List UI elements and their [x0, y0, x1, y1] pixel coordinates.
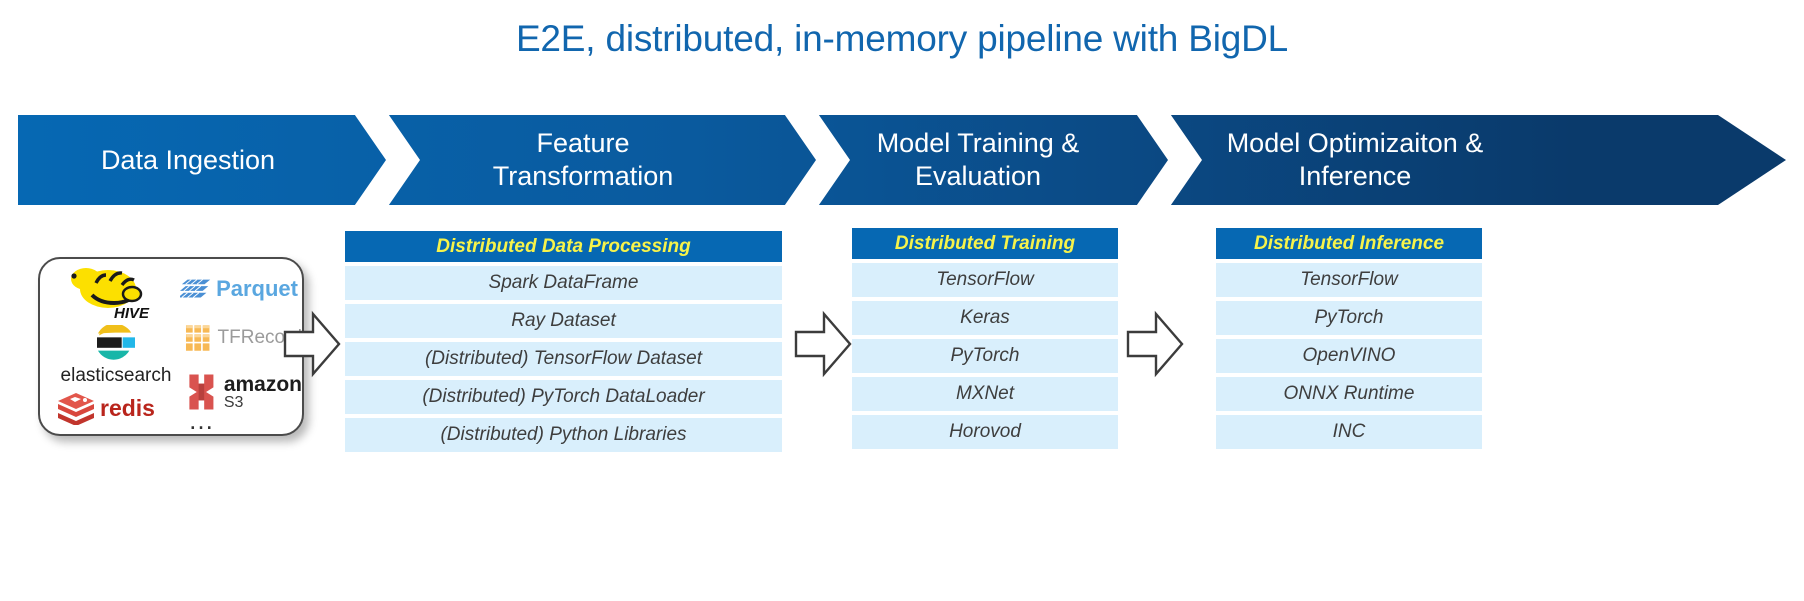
- page-title: E2E, distributed, in-memory pipeline wit…: [0, 18, 1804, 60]
- table-distributed-data-processing: Distributed Data Processing Spark DataFr…: [345, 231, 782, 452]
- table-row[interactable]: (Distributed) Python Libraries: [345, 418, 782, 452]
- elasticsearch-logo: elasticsearch: [54, 325, 178, 387]
- arrow-training-to-inference: [1126, 308, 1184, 380]
- elasticsearch-logo-text: elasticsearch: [61, 365, 172, 387]
- more-sources-ellipsis: …: [188, 409, 248, 431]
- data-source-logo-card: HIVE elasticsearch redis: [38, 257, 304, 436]
- table-distributed-training: Distributed Training TensorFlow Keras Py…: [852, 228, 1118, 449]
- table-row[interactable]: MXNet: [852, 377, 1118, 411]
- redis-logo-text: redis: [100, 395, 155, 422]
- arrow-ingest-to-processing: [283, 308, 341, 380]
- arrow-processing-to-training: [794, 308, 852, 380]
- pipeline-stage-banner: Data Ingestion Feature Transformation Mo…: [18, 115, 1786, 205]
- hive-logo-text: HIVE: [114, 305, 150, 322]
- hive-logo: HIVE: [62, 265, 170, 323]
- table-row[interactable]: ONNX Runtime: [1216, 377, 1482, 411]
- table-row[interactable]: PyTorch: [852, 339, 1118, 373]
- table-header-inference: Distributed Inference: [1216, 228, 1482, 259]
- table-row[interactable]: Horovod: [852, 415, 1118, 449]
- table-row[interactable]: Spark DataFrame: [345, 266, 782, 300]
- table-row[interactable]: OpenVINO: [1216, 339, 1482, 373]
- table-row[interactable]: Keras: [852, 301, 1118, 335]
- parquet-logo-text: Parquet: [216, 276, 298, 302]
- redis-logo: redis: [56, 387, 176, 429]
- table-row[interactable]: PyTorch: [1216, 301, 1482, 335]
- table-header-training: Distributed Training: [852, 228, 1118, 259]
- table-row[interactable]: Ray Dataset: [345, 304, 782, 338]
- table-row[interactable]: (Distributed) PyTorch DataLoader: [345, 380, 782, 414]
- table-row[interactable]: (Distributed) TensorFlow Dataset: [345, 342, 782, 376]
- table-header-processing: Distributed Data Processing: [345, 231, 782, 262]
- banner-band: [18, 115, 1786, 205]
- table-distributed-inference: Distributed Inference TensorFlow PyTorch…: [1216, 228, 1482, 449]
- table-row[interactable]: TensorFlow: [852, 263, 1118, 297]
- table-row[interactable]: TensorFlow: [1216, 263, 1482, 297]
- parquet-logo: Parquet: [180, 271, 298, 307]
- table-row[interactable]: INC: [1216, 415, 1482, 449]
